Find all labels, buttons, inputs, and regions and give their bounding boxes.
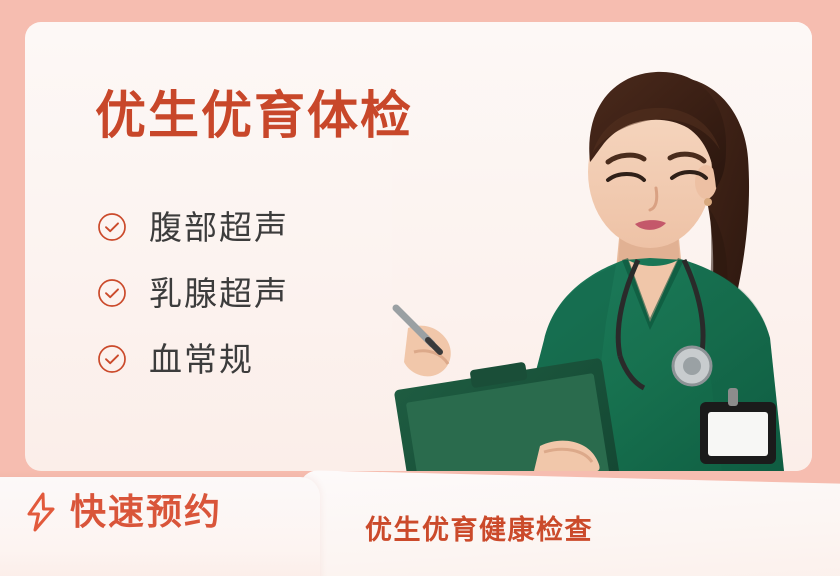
package-card: 优生优育体检 腹部超声 乳腺超声 <box>25 22 812 471</box>
list-item: 乳腺超声 <box>97 260 427 326</box>
list-item: 腹部超声 <box>97 194 427 260</box>
nurse-photo <box>392 22 812 471</box>
list-item: 血常规 <box>97 326 427 392</box>
check-circle-icon <box>97 344 127 374</box>
quick-booking-label: 快速预约 <box>70 494 222 530</box>
list-item-label: 腹部超声 <box>149 211 289 244</box>
list-item-label: 血常规 <box>149 343 254 376</box>
check-circle-icon <box>97 212 127 242</box>
page-title: 优生优育体检 <box>95 90 413 141</box>
promo-banner: 优生优育体检 腹部超声 乳腺超声 <box>0 0 840 576</box>
list-item-label: 乳腺超声 <box>149 277 289 310</box>
check-circle-icon <box>97 278 127 308</box>
quick-booking-content[interactable]: 快速预约 <box>24 492 222 532</box>
lightning-bolt-icon <box>24 492 58 532</box>
package-name-label: 优生优育健康检查 <box>365 508 593 547</box>
checklist: 腹部超声 乳腺超声 血常规 <box>97 194 427 392</box>
